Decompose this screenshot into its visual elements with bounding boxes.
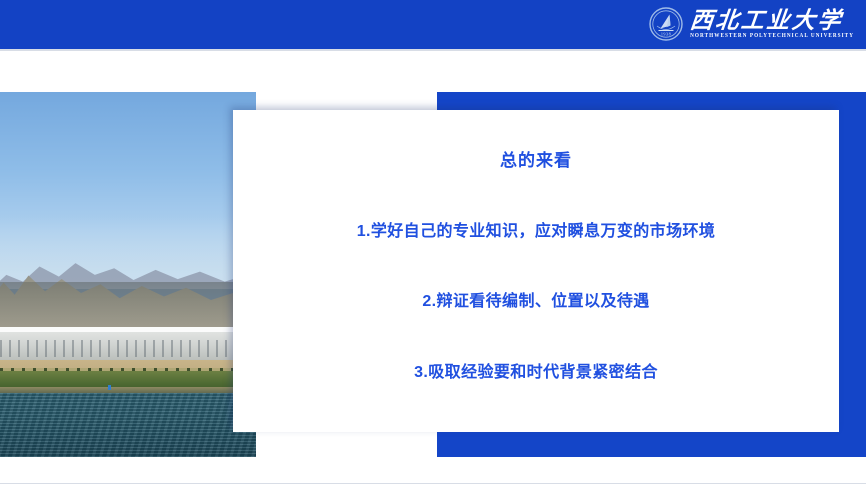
bullet-list: 1.学好自己的专业知识，应对瞬息万变的市场环境 2.辩证看待编制、位置以及待遇 … — [263, 172, 809, 384]
photo-mountain-shadow — [0, 282, 256, 333]
campus-lake-photo — [0, 92, 256, 457]
content-card: 总的来看 1.学好自己的专业知识，应对瞬息万变的市场环境 2.辩证看待编制、位置… — [233, 110, 839, 432]
logo-wordmark: 西北工业大学 NORTHWESTERN POLYTECHNICAL UNIVER… — [690, 9, 854, 39]
bullet-item-3: 3.吸取经验要和时代背景紧密结合 — [414, 362, 658, 384]
university-logo: 1938 西北工业大学 NORTHWESTERN POLYTECHNICAL U… — [649, 4, 854, 44]
logo-chinese-name: 西北工业大学 — [689, 9, 855, 32]
header-divider — [0, 49, 866, 51]
slide-root: 1938 西北工业大学 NORTHWESTERN POLYTECHNICAL U… — [0, 0, 866, 487]
photo-building-roofline — [0, 327, 256, 332]
bottom-divider — [0, 483, 866, 484]
bullet-item-2: 2.辩证看待编制、位置以及待遇 — [422, 291, 649, 313]
nwpu-emblem-icon: 1938 — [649, 7, 683, 41]
photo-buoy — [108, 385, 111, 390]
photo-water-ripples — [0, 393, 256, 457]
svg-text:1938: 1938 — [661, 31, 671, 36]
photo-building-windows — [0, 340, 256, 356]
bullet-item-1: 1.学好自己的专业知识，应对瞬息万变的市场环境 — [357, 221, 716, 243]
logo-english-name: NORTHWESTERN POLYTECHNICAL UNIVERSITY — [690, 34, 854, 40]
card-heading: 总的来看 — [500, 150, 572, 172]
